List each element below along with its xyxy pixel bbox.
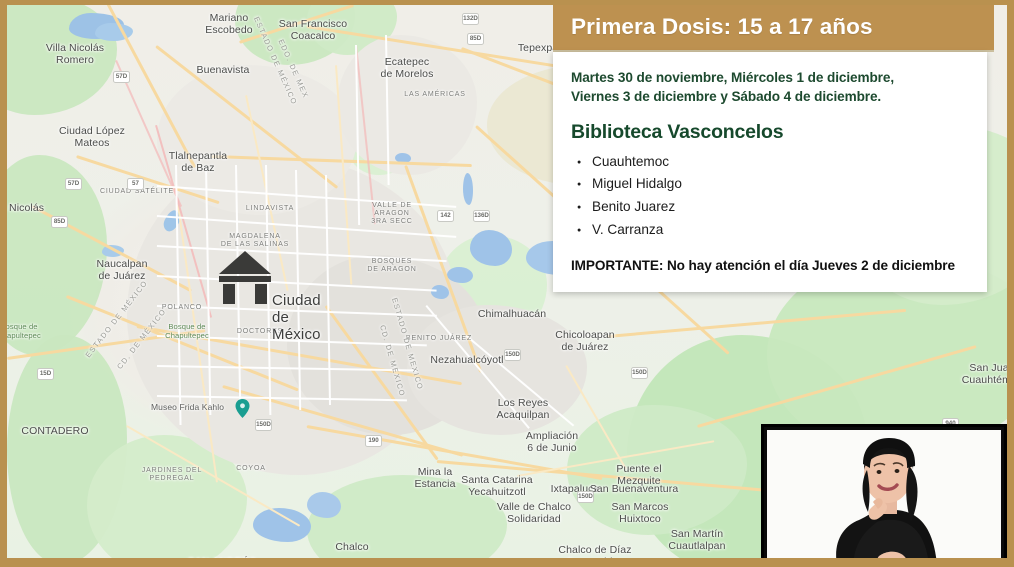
screen: Museo Frida Kahlo Villa Nicolás RomeroMa… [7,5,1007,558]
highway-shield-icon: 150D [577,491,594,503]
map-pin-icon[interactable] [235,399,250,418]
card-body: Martes 30 de noviembre, Miércoles 1 de d… [553,52,987,292]
map-city-label: Los Reyes Acaquilpan [497,398,550,422]
highway-shield-icon: 150D [504,349,521,361]
poi-label: Museo Frida Kahlo [151,403,224,413]
dates-line-2: Viernes 3 de diciembre y Sábado 4 de dic… [571,87,969,106]
map-city-label: Chalco de Díaz Covarrubias [558,545,631,558]
interpreter-video-frame [767,430,1001,558]
map-water [463,173,473,205]
dates-block: Martes 30 de noviembre, Miércoles 1 de d… [571,68,969,107]
map-city-label: Nezahualcóyotl [430,355,503,367]
highway-shield-icon: 85D [51,216,68,228]
highway-shield-icon: 57 [127,178,144,190]
map-city-label: San Marcos Huixtoco [611,502,668,526]
map-city-label: Ampliación 6 de Junio [526,431,578,455]
highway-shield-icon: 136D [473,210,490,222]
map-city-label: Chimalhuacán [478,309,546,321]
borough-list: CuauhtemocMiguel HidalgoBenito JuarezV. … [577,151,969,242]
map-city-label: Villa Nicolás [7,203,44,215]
borough-item: Benito Juarez [577,196,969,219]
announcement-card: Primera Dosis: 15 a 17 años Martes 30 de… [553,5,987,292]
highway-shield-icon: 190 [365,435,382,447]
venue-heading: Biblioteca Vasconcelos [571,121,969,144]
cdmx-monument-icon[interactable] [216,248,274,304]
highway-shield-icon: 150D [631,367,648,379]
map-neighborhood-label: JARDINES DEL PEDREGAL [142,467,202,483]
map-neighborhood-label: BENITO JUÁREZ [406,335,472,343]
interpreter-video-inset[interactable] [761,424,1007,558]
map-neighborhood-label: COYOA [236,465,266,473]
interpreter-figure [767,430,1001,558]
map-city-label: Ecatepec de Morelos [381,57,434,81]
highway-shield-icon: 132D [462,13,479,25]
map-city-label: San Martín Cuautlalpan [668,529,725,553]
map-city-label: San Buenaventura [590,484,679,496]
map-water [307,492,341,518]
map-neighborhood-label: MAGDALENA DE LAS SALINAS [221,233,289,249]
map-neighborhood-label: BOSQUES DE ARAGON [367,258,416,274]
map-city-label: Mina la Estancia [414,467,455,491]
map-city-label: SAN ANDRÉS [188,557,257,558]
highway-shield-icon: 85D [467,33,484,45]
map-city-label: San Francisco Coacalco [279,19,347,43]
map-city-label: CONTADERO [21,426,88,438]
map-park-label: Bosque de Chapultepec [165,323,209,340]
highway-shield-icon: 57D [113,71,130,83]
map-water [447,267,473,283]
map-neighborhood-label: POLANCO [162,304,202,312]
map-city-label: Chicoloapan de Juárez [555,330,614,354]
card-title: Primera Dosis: 15 a 17 años [571,14,873,40]
map-park-label: Bosque de Chapultepec [7,323,41,340]
borough-item: V. Carranza [577,219,969,242]
map-water [431,285,449,299]
map-city-label: Villa Nicolás Romero [46,43,104,67]
dates-line-1: Martes 30 de noviembre, Miércoles 1 de d… [571,68,969,87]
map-city-label: Chalco [335,542,368,554]
map-neighborhood-label: VALLE DE ARAGON 3RA SECC [371,202,412,225]
map-city-label: Tlalnepantla de Baz [169,151,227,175]
borough-item: Miguel Hidalgo [577,173,969,196]
map-city-label: Ciudad López Mateos [59,126,125,150]
map-city-label: Valle de Chalco Solidaridad [497,502,571,526]
map-neighborhood-label: LINDAVISTA [246,205,294,213]
map-city-label: Santa Catarina Yecahuitzotl [461,475,532,499]
map-neighborhood-label: LAS AMÉRICAS [404,91,466,99]
highway-shield-icon: 57D [65,178,82,190]
borough-item: Cuauhtemoc [577,151,969,174]
map-city-label: Mariano Escobedo [205,13,253,37]
broadcast-frame: Museo Frida Kahlo Villa Nicolás RomeroMa… [0,0,1014,567]
map-city-label: San Juan Cuauhtémoc [962,363,1007,387]
highway-shield-icon: 150D [255,419,272,431]
highway-shield-icon: 142 [437,210,454,222]
map-city-label: Buenavista [197,65,250,77]
card-header: Primera Dosis: 15 a 17 años [553,5,994,52]
important-note: IMPORTANTE: No hay atención el día Jueve… [571,256,969,276]
map-city-label: Naucalpan de Juárez [96,259,147,283]
map-water [470,230,512,266]
highway-shield-icon: 15D [37,368,54,380]
